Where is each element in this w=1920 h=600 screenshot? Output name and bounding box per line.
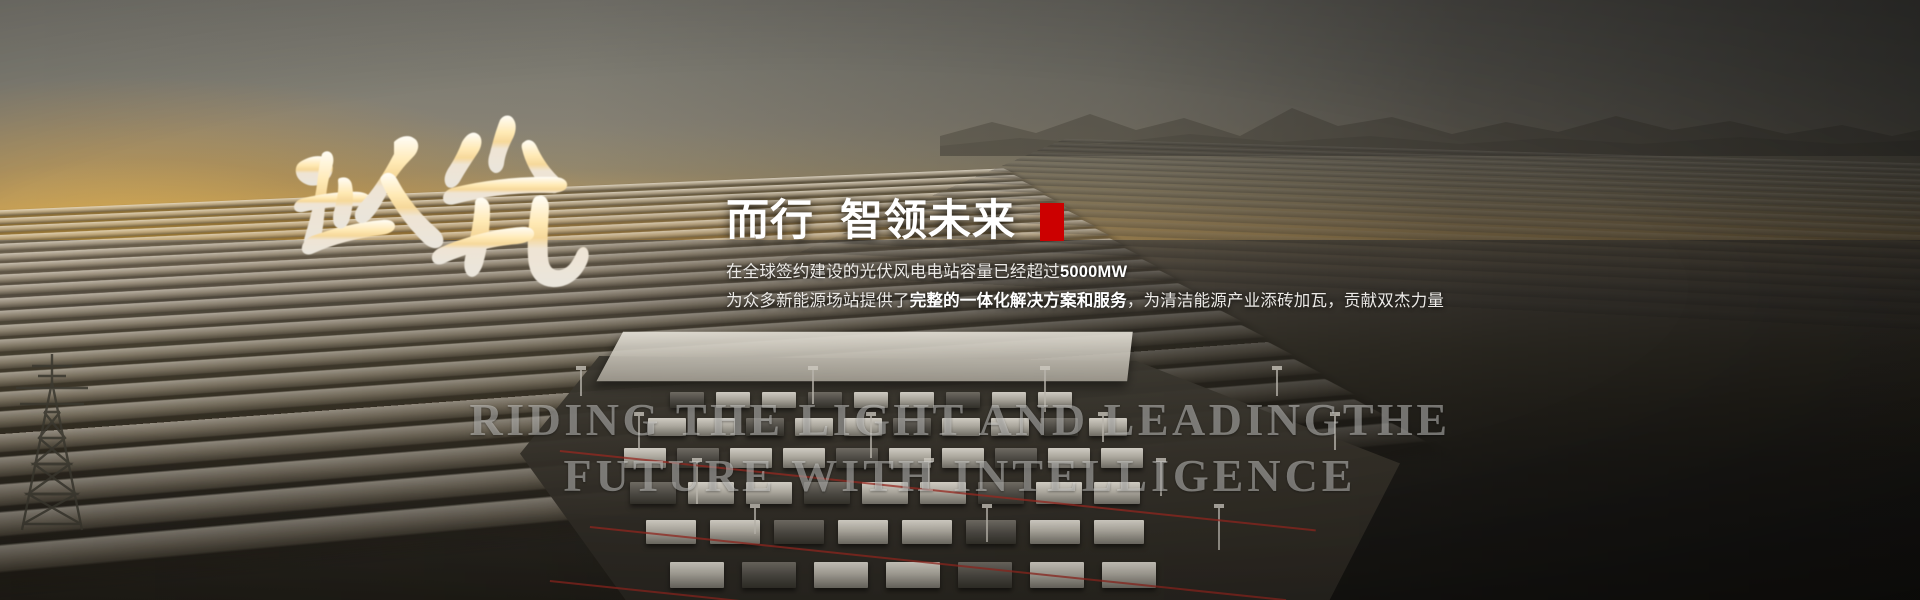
hero-banner: 而行 智领未来 在全球签约建设的光伏风电电站容量已经超过5000MW 为众多新能… bbox=[0, 0, 1920, 600]
battery-container bbox=[762, 392, 796, 408]
red-accent-block bbox=[1040, 203, 1064, 241]
battery-container bbox=[995, 448, 1037, 468]
battery-container bbox=[978, 482, 1024, 504]
subtitle-line1-text: 在全球签约建设的光伏风电电站容量已经超过 bbox=[726, 263, 1060, 281]
battery-container bbox=[1094, 482, 1140, 504]
subtitle-line-1: 在全球签约建设的光伏风电电站容量已经超过5000MW bbox=[726, 259, 1726, 286]
canopy-roof bbox=[596, 332, 1132, 381]
light-pole bbox=[696, 462, 698, 504]
battery-container bbox=[991, 418, 1029, 436]
battery-container bbox=[966, 520, 1016, 544]
page-title: 而行 智领未来 bbox=[726, 200, 1726, 243]
light-pole bbox=[1160, 462, 1162, 496]
battery-container bbox=[804, 482, 850, 504]
subtitle-line-2: 为众多新能源场站提供了完整的一体化解决方案和服务，为清洁能源产业添砖加瓦，贡献双… bbox=[726, 288, 1726, 315]
light-pole bbox=[580, 370, 582, 396]
battery-container bbox=[992, 392, 1026, 408]
battery-container bbox=[1094, 520, 1144, 544]
battery-container bbox=[902, 520, 952, 544]
headline-text-block: 而行 智领未来 在全球签约建设的光伏风电电站容量已经超过5000MW 为众多新能… bbox=[726, 200, 1726, 314]
battery-container bbox=[774, 520, 824, 544]
battery-container bbox=[670, 562, 724, 588]
light-pole bbox=[1102, 416, 1104, 442]
light-pole bbox=[1044, 370, 1046, 412]
light-pole bbox=[638, 416, 640, 450]
battery-container bbox=[648, 418, 686, 436]
battery-container bbox=[730, 448, 772, 468]
battery-container bbox=[946, 392, 980, 408]
battery-container bbox=[630, 482, 676, 504]
battery-container bbox=[1048, 448, 1090, 468]
battery-container bbox=[942, 418, 980, 436]
subtitle-line2-text-a: 为众多新能源场站提供了 bbox=[726, 292, 910, 310]
subtitle-line2-text-b: ，为清洁能源产业添砖加瓦，贡献双杰力量 bbox=[1127, 292, 1444, 310]
battery-container bbox=[688, 482, 734, 504]
battery-container bbox=[742, 562, 796, 588]
battery-container bbox=[1040, 418, 1078, 436]
subtitle-line1-highlight: 5000MW bbox=[1060, 263, 1127, 281]
battery-container bbox=[886, 562, 940, 588]
energy-storage-compound bbox=[520, 330, 1400, 600]
battery-container bbox=[1101, 448, 1143, 468]
light-pole bbox=[1334, 416, 1336, 450]
transmission-tower-icon bbox=[6, 352, 98, 532]
battery-container bbox=[783, 448, 825, 468]
battery-container bbox=[942, 448, 984, 468]
battery-container bbox=[893, 418, 931, 436]
light-pole bbox=[870, 416, 872, 458]
subtitle-line2-highlight: 完整的一体化解决方案和服务 bbox=[910, 292, 1127, 310]
battery-container bbox=[716, 392, 750, 408]
light-pole bbox=[1218, 508, 1220, 550]
battery-container bbox=[746, 418, 784, 436]
battery-container bbox=[844, 418, 882, 436]
battery-container bbox=[814, 562, 868, 588]
light-pole bbox=[928, 462, 930, 488]
battery-container bbox=[1089, 418, 1127, 436]
battery-container bbox=[746, 482, 792, 504]
light-pole bbox=[1276, 370, 1278, 396]
light-pole bbox=[812, 370, 814, 404]
battery-container bbox=[1030, 520, 1080, 544]
battery-container bbox=[854, 392, 888, 408]
headline-part-b: 智领未来 bbox=[840, 200, 1016, 243]
battery-container bbox=[795, 418, 833, 436]
light-pole bbox=[986, 508, 988, 542]
light-pole bbox=[754, 508, 756, 534]
battery-container bbox=[838, 520, 888, 544]
battery-container bbox=[670, 392, 704, 408]
battery-container bbox=[697, 418, 735, 436]
battery-container bbox=[900, 392, 934, 408]
headline-part-a: 而行 bbox=[726, 200, 814, 243]
